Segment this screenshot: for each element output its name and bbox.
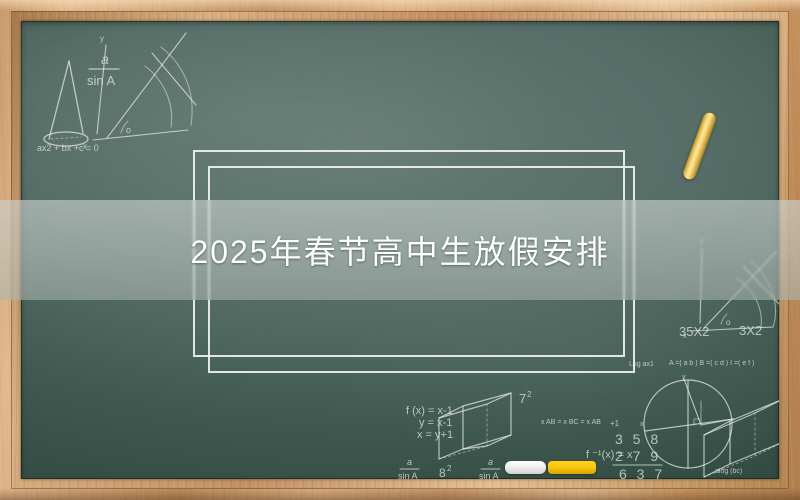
white-chalk-tray[interactable] <box>505 461 546 474</box>
frame-bottom-shadow <box>0 488 800 500</box>
screenshot-stage: a sin A y x o ax2 <box>0 0 800 500</box>
frame-top-highlight <box>0 0 800 11</box>
yellow-chalk-tray[interactable] <box>548 461 596 474</box>
page-title: 2025年春节高中生放假安排 <box>0 200 800 300</box>
